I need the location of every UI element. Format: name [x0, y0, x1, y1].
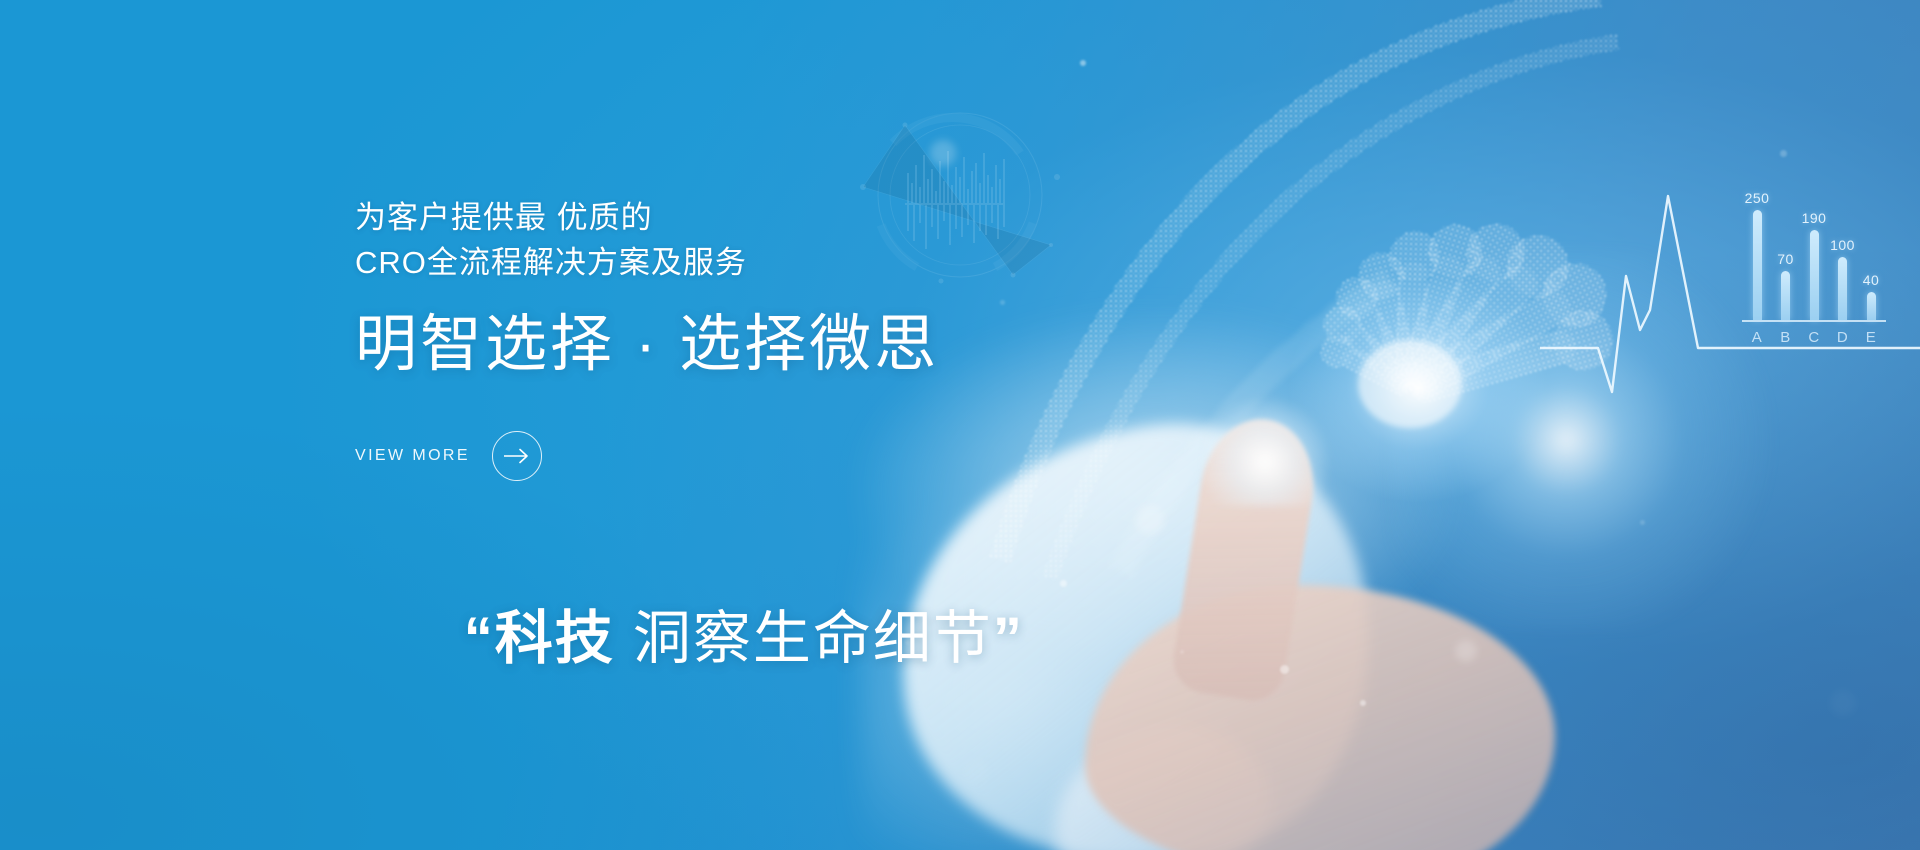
arrow-right-icon[interactable]	[492, 431, 542, 481]
chart-column: 70	[1777, 190, 1795, 320]
chart-column: 190	[1805, 190, 1823, 320]
bar	[1810, 230, 1819, 320]
quote-light-text: 洞察生命细节	[615, 606, 993, 671]
chart-column: 40	[1862, 190, 1880, 320]
hero-quote: “科技 洞察生命细节”	[355, 543, 1115, 734]
hero-subtitle-line-2: CRO全流程解决方案及服务	[355, 240, 1115, 285]
bar	[1838, 257, 1847, 320]
hero-copy: 为客户提供最 优质的 CRO全流程解决方案及服务 明智选择 · 选择微思 VIE…	[355, 195, 1115, 734]
hero-subtitle-line-1: 为客户提供最 优质的	[355, 195, 1115, 240]
quote-open-mark: “	[464, 606, 495, 671]
axis-label: A	[1748, 329, 1766, 346]
chart-column: 100	[1834, 190, 1852, 320]
bar	[1753, 210, 1762, 320]
chart-column: 250	[1748, 190, 1766, 320]
hero-headline: 明智选择 · 选择微思	[355, 310, 1115, 379]
axis-label: E	[1862, 329, 1880, 346]
quote-strong-text: 科技	[495, 606, 615, 671]
chart-plot-area: 250 70 190 100 40	[1742, 190, 1886, 322]
view-more-label: VIEW MORE	[355, 447, 470, 465]
axis-label: B	[1777, 329, 1795, 346]
bar-value-label: 40	[1863, 273, 1880, 287]
bar-value-label: 190	[1802, 211, 1827, 225]
axis-label: C	[1805, 329, 1823, 346]
hero-banner: 250 70 190 100 40 A B C D	[0, 0, 1920, 850]
bar-value-label: 70	[1777, 252, 1794, 266]
hero-subtitle: 为客户提供最 优质的 CRO全流程解决方案及服务	[355, 195, 1115, 286]
bar-value-label: 100	[1830, 238, 1855, 252]
mini-bar-chart: 250 70 190 100 40 A B C D	[1742, 190, 1902, 370]
view-more-button[interactable]: VIEW MORE	[355, 431, 542, 481]
chart-category-axis: A B C D E	[1742, 322, 1886, 346]
axis-label: D	[1834, 329, 1852, 346]
bar	[1781, 271, 1790, 320]
quote-close-mark: ”	[993, 606, 1024, 671]
bar-value-label: 250	[1745, 191, 1770, 205]
bar	[1867, 292, 1876, 320]
